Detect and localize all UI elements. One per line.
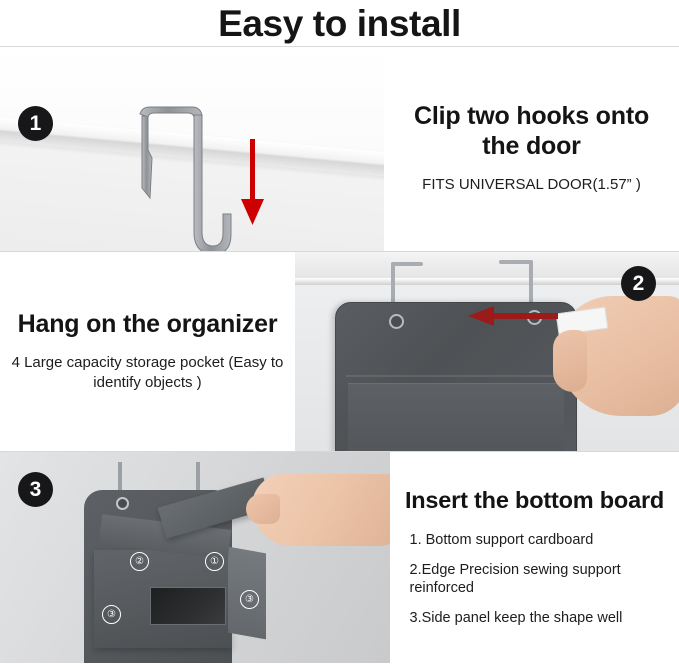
step-1-number: 1	[30, 113, 42, 134]
organizer-pocket	[348, 383, 564, 451]
thumb	[553, 330, 587, 392]
step-2-headline: Hang on the organizer	[18, 310, 278, 340]
step-3-number: 3	[30, 479, 42, 500]
step-2-copy: Hang on the organizer 4 Large capacity s…	[0, 252, 295, 451]
callout-3-right: ③	[240, 590, 259, 609]
callout-3-left: ③	[102, 605, 121, 624]
fingers	[246, 494, 280, 524]
callout-2: ②	[130, 552, 149, 571]
step-3-badge: 3	[18, 472, 53, 507]
step-3-bullet-1: 1. Bottom support cardboard	[410, 531, 660, 550]
step-1-illustration: 1	[0, 47, 384, 251]
step-1-subtext: FITS UNIVERSAL DOOR(1.57” )	[422, 175, 641, 195]
step-1-badge: 1	[18, 106, 53, 141]
step-panel-3: ② ① ③ ③ 3 Insert the bottom board 1. Bot…	[0, 451, 679, 663]
pocket-window-opening	[150, 587, 226, 625]
left-arrow-icon	[468, 304, 560, 328]
step-3-bullet-3: 3.Side panel keep the shape well	[410, 609, 660, 628]
step-3-headline: Insert the bottom board	[405, 487, 664, 515]
down-arrow-icon	[238, 139, 268, 229]
step-3-copy: Insert the bottom board 1. Bottom suppor…	[390, 452, 679, 663]
step-3-illustration: ② ① ③ ③ 3	[0, 452, 390, 663]
page-title-bar: Easy to install	[0, 0, 679, 46]
organizer-seam	[346, 375, 566, 377]
step-panel-2: Hang on the organizer 4 Large capacity s…	[0, 251, 679, 451]
step-2-illustration: 2	[295, 252, 679, 451]
step-2-badge: 2	[621, 266, 656, 301]
step-1-copy: Clip two hooks onto the door FITS UNIVER…	[384, 47, 679, 251]
step-3-bullet-2: 2.Edge Precision sewing support reinforc…	[410, 561, 660, 599]
grommet-left	[389, 314, 404, 329]
step-panel-1: 1 Clip two hooks onto the door FITS UNIV…	[0, 46, 679, 251]
step-2-number: 2	[633, 273, 645, 294]
callout-1: ①	[205, 552, 224, 571]
callout-2-label: ②	[135, 557, 144, 567]
hook-bridge-left	[391, 262, 423, 266]
grommet-left	[116, 497, 129, 510]
hook-bridge-right	[499, 260, 533, 264]
step-3-bullet-list: 1. Bottom support cardboard 2.Edge Preci…	[410, 531, 660, 628]
callout-3-right-label: ③	[245, 595, 254, 605]
step-2-subtext: 4 Large capacity storage pocket (Easy to…	[10, 353, 285, 394]
callout-1-label: ①	[210, 557, 219, 567]
page-title: Easy to install	[218, 5, 461, 42]
callout-3-left-label: ③	[107, 610, 116, 620]
step-1-headline: Clip two hooks onto the door	[394, 102, 669, 161]
s-hook-icon	[128, 102, 243, 251]
